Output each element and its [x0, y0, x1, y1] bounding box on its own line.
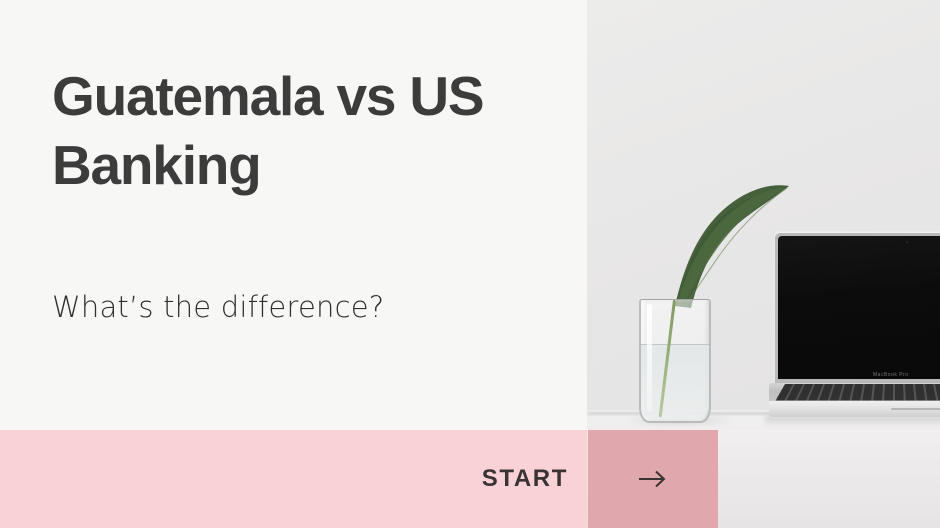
- page-title: Guatemala vs US Banking: [52, 62, 552, 200]
- glass-highlight: [647, 304, 652, 412]
- glass-vase: [639, 299, 711, 423]
- start-button[interactable]: START: [0, 430, 587, 528]
- webcam-icon: [906, 241, 908, 243]
- laptop-screen: [778, 236, 940, 379]
- page-subtitle: What’s the difference?: [52, 288, 384, 326]
- laptop-brand-label: MacBook Pro: [873, 372, 909, 378]
- text-panel: Guatemala vs US Banking What’s the diffe…: [0, 0, 587, 430]
- start-button-label: START: [482, 465, 568, 493]
- title-slide: Guatemala vs US Banking What’s the diffe…: [0, 0, 940, 528]
- laptop-keys: [776, 384, 940, 401]
- next-arrow-button[interactable]: [588, 430, 718, 528]
- arrow-right-icon: [636, 468, 670, 490]
- laptop-base-slot: [891, 408, 940, 410]
- laptop: MacBook Pro: [769, 233, 940, 423]
- bottom-filler: [718, 430, 940, 528]
